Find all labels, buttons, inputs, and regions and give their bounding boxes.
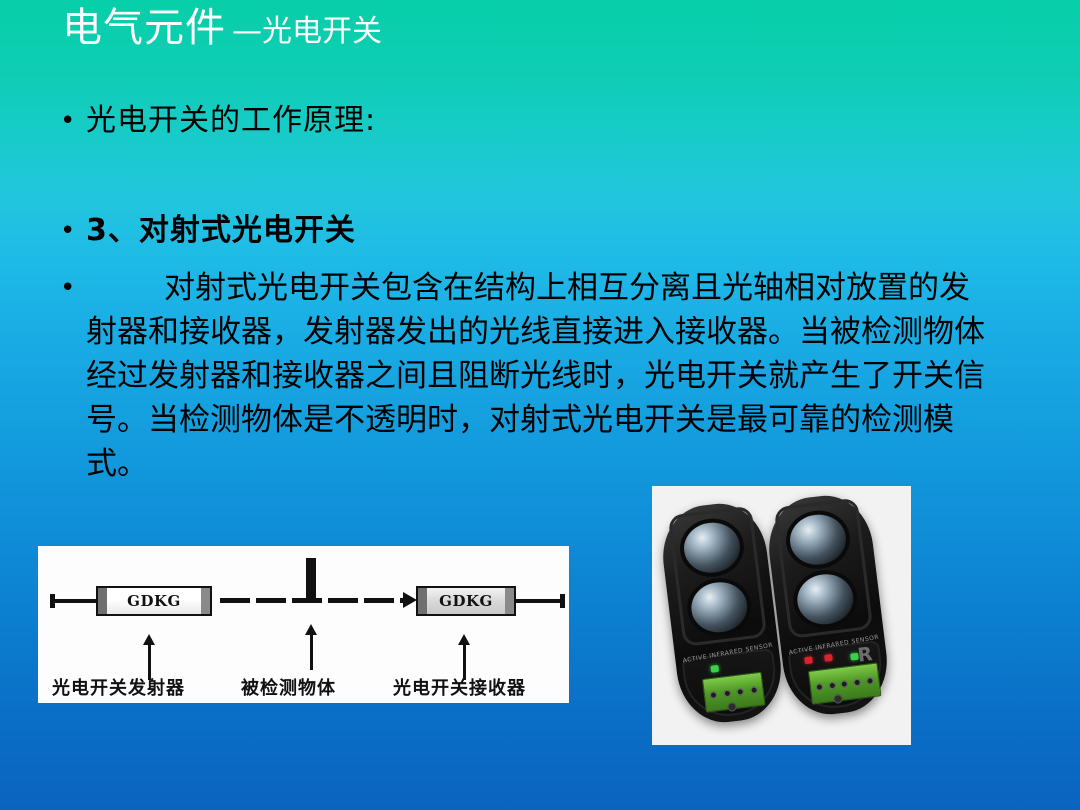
page-title: 电气元件—光电开关 [62, 8, 382, 48]
bullet-text-heading: 3、对射式光电开关 [86, 212, 356, 250]
terminal-screw-icon [710, 691, 718, 699]
terminal-screw-icon [723, 689, 731, 697]
bullet-item-principle: • 光电开关的工作原理: [60, 102, 376, 140]
bullet-marker-icon: • [60, 212, 86, 250]
product-photo: ACTIVE INFRARED SENSOR ACTIVE INFRARED S… [652, 486, 911, 745]
terminal-screw-icon [750, 686, 758, 694]
receiver-cap-right-icon [505, 588, 514, 614]
diagram-label-object: 被检测物体 [241, 674, 336, 700]
page-title-main: 电气元件 [62, 5, 226, 51]
terminal-screw-icon [815, 683, 823, 691]
schematic-diagram: GDKG GDKG 光电开关发射器 被检测物体 光电开关接收器 [38, 546, 569, 703]
terminal-screw-icon [841, 680, 849, 688]
led-green-icon [710, 665, 719, 673]
bullet-text-body: 对射式光电开关包含在结构上相互分离且光轴相对放置的发射器和接收器，发射器发出的光… [86, 266, 996, 486]
emitter-brand-label: GDKG [107, 592, 201, 610]
emitter-cap-icon [98, 588, 107, 614]
terminal-screw-icon [737, 687, 745, 695]
bullet-marker-icon: • [60, 102, 86, 140]
bullet-item-body: • 对射式光电开关包含在结构上相互分离且光轴相对放置的发射器和接收器，发射器发出… [60, 266, 1060, 486]
led-red-icon [804, 656, 813, 664]
beam-arrowhead-icon [403, 592, 417, 608]
emitter-device: GDKG [96, 586, 212, 616]
sensor-unit-left: ACTIVE INFRARED SENSOR [657, 498, 787, 727]
diagram-label-receiver: 光电开关接收器 [393, 674, 526, 700]
bullet-marker-icon: • [60, 266, 86, 310]
receiver-cable-icon [516, 599, 562, 603]
detected-object-icon [306, 558, 316, 598]
sensor-unit-right: ACTIVE INFRARED SENSOR R [763, 490, 893, 719]
terminal-screw-icon [866, 677, 874, 685]
receiver-cap-icon [418, 588, 427, 614]
diagram-label-emitter: 光电开关发射器 [52, 674, 185, 700]
led-red-icon [824, 654, 833, 662]
callout-arrow-object-icon [303, 624, 319, 670]
slide-canvas: 电气元件—光电开关 • 光电开关的工作原理: • 3、对射式光电开关 • 对射式… [0, 0, 1080, 810]
receiver-brand-label: GDKG [427, 592, 505, 610]
receiver-device: GDKG [416, 586, 516, 616]
bullet-item-heading: • 3、对射式光电开关 [60, 212, 356, 250]
light-beam-icon [220, 598, 408, 603]
emitter-cap-right-icon [201, 588, 210, 614]
terminal-screw-icon [853, 678, 861, 686]
emitter-cable-icon [54, 599, 96, 603]
terminal-screw-icon [828, 681, 836, 689]
bullet-text-principle: 光电开关的工作原理: [86, 102, 376, 140]
terminal-block-right [808, 662, 882, 704]
receiver-cable-tip-icon [560, 594, 565, 608]
page-title-sub: —光电开关 [232, 14, 382, 49]
